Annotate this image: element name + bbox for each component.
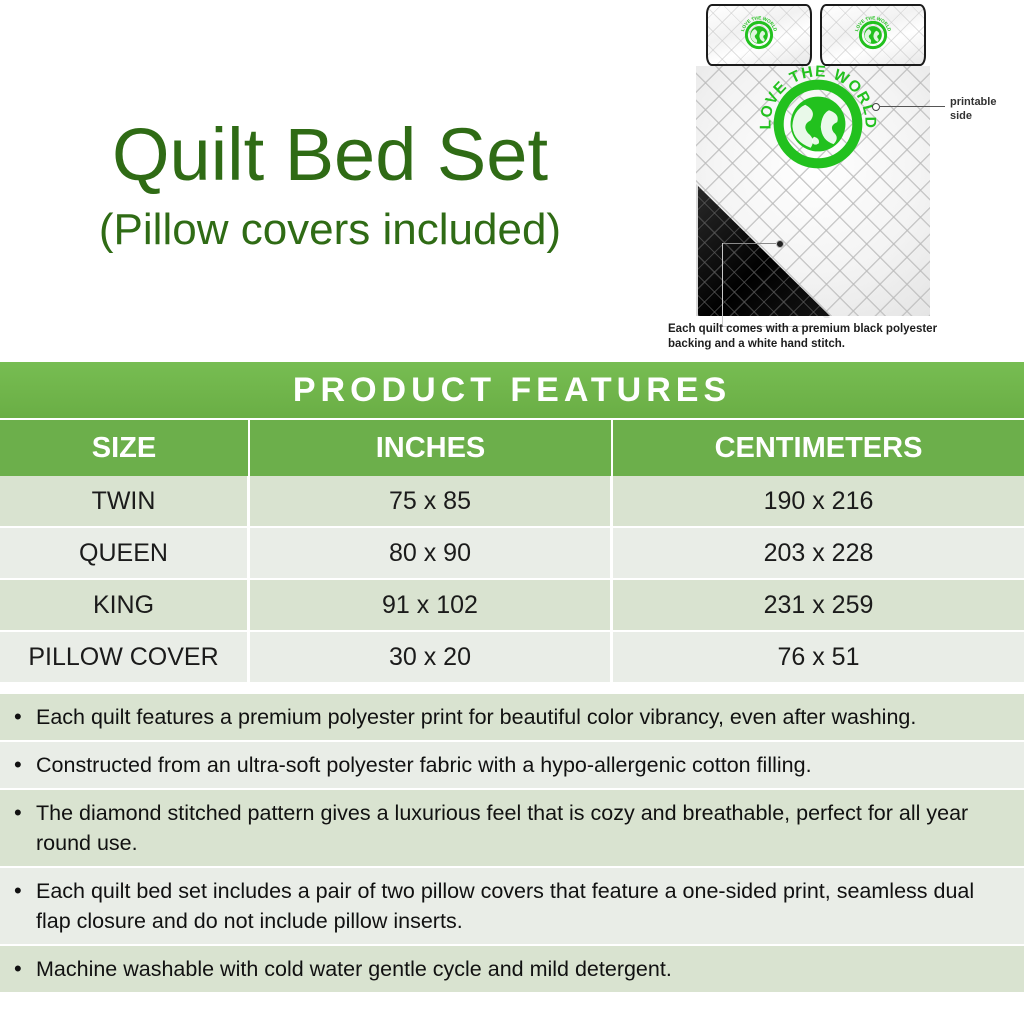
callout-printable-line2: side bbox=[950, 110, 1024, 124]
bullet-icon: • bbox=[14, 798, 36, 858]
callout-dot-icon bbox=[872, 103, 880, 111]
pillow-left: LOVE THE WORLD bbox=[706, 4, 812, 66]
cell-centimeters: 190 x 216 bbox=[613, 476, 1024, 528]
table-row: KING 91 x 102 231 x 259 bbox=[0, 580, 1024, 632]
cell-inches: 30 x 20 bbox=[250, 632, 613, 684]
list-item-text: Each quilt bed set includes a pair of tw… bbox=[36, 876, 1010, 936]
love-the-world-logo-icon: LOVE THE WORLD bbox=[754, 60, 882, 188]
list-item-text: Constructed from an ultra-soft polyester… bbox=[36, 750, 1010, 780]
bullet-icon: • bbox=[14, 702, 36, 732]
cell-size: PILLOW COVER bbox=[0, 632, 250, 684]
list-item-text: Each quilt features a premium polyester … bbox=[36, 702, 1010, 732]
cell-centimeters: 76 x 51 bbox=[613, 632, 1024, 684]
column-header-centimeters: CENTIMETERS bbox=[613, 420, 1024, 476]
list-item: • The diamond stitched pattern gives a l… bbox=[0, 790, 1024, 868]
cell-size: TWIN bbox=[0, 476, 250, 528]
table-row: TWIN 75 x 85 190 x 216 bbox=[0, 476, 1024, 528]
callout-leader-line bbox=[722, 243, 776, 244]
product-photo: LOVE THE WORLD LOVE THE WORLD bbox=[660, 0, 1024, 362]
page-subtitle: (Pillow covers included) bbox=[0, 208, 660, 252]
callout-leader-line bbox=[879, 106, 945, 107]
callout-printable-side: printable side bbox=[872, 96, 1024, 142]
cell-inches: 80 x 90 bbox=[250, 528, 613, 580]
table-column-headers: SIZE INCHES CENTIMETERS bbox=[0, 420, 1024, 476]
cell-size: KING bbox=[0, 580, 250, 632]
cell-centimeters: 231 x 259 bbox=[613, 580, 1024, 632]
cell-inches: 75 x 85 bbox=[250, 476, 613, 528]
callout-backing bbox=[700, 240, 832, 330]
list-item: • Machine washable with cold water gentl… bbox=[0, 946, 1024, 994]
list-item-text: Machine washable with cold water gentle … bbox=[36, 954, 1010, 984]
callout-leader-line bbox=[722, 243, 723, 327]
table-row: PILLOW COVER 30 x 20 76 x 51 bbox=[0, 632, 1024, 684]
bullet-icon: • bbox=[14, 750, 36, 780]
bullet-icon: • bbox=[14, 954, 36, 984]
product-photo-caption: Each quilt comes with a premium black po… bbox=[668, 322, 968, 352]
cell-inches: 91 x 102 bbox=[250, 580, 613, 632]
column-header-inches: INCHES bbox=[250, 420, 613, 476]
table-title: PRODUCT FEATURES bbox=[0, 362, 1024, 420]
bullet-icon: • bbox=[14, 876, 36, 936]
feature-bullet-list: • Each quilt features a premium polyeste… bbox=[0, 694, 1024, 994]
cell-centimeters: 203 x 228 bbox=[613, 528, 1024, 580]
list-item-text: The diamond stitched pattern gives a lux… bbox=[36, 798, 1010, 858]
page-title: Quilt Bed Set bbox=[0, 118, 660, 192]
product-features-table: PRODUCT FEATURES SIZE INCHES CENTIMETERS… bbox=[0, 362, 1024, 684]
callout-dot-icon bbox=[776, 240, 784, 248]
pillow-right: LOVE THE WORLD bbox=[820, 4, 926, 66]
callout-printable-line1: printable bbox=[950, 96, 1024, 110]
cell-size: QUEEN bbox=[0, 528, 250, 580]
list-item: • Each quilt bed set includes a pair of … bbox=[0, 868, 1024, 946]
list-item: • Each quilt features a premium polyeste… bbox=[0, 694, 1024, 742]
hero-section: Quilt Bed Set (Pillow covers included) L… bbox=[0, 0, 1024, 362]
column-header-size: SIZE bbox=[0, 420, 250, 476]
list-item: • Constructed from an ultra-soft polyest… bbox=[0, 742, 1024, 790]
table-row: QUEEN 80 x 90 203 x 228 bbox=[0, 528, 1024, 580]
callout-printable-label: printable side bbox=[950, 96, 1024, 124]
title-block: Quilt Bed Set (Pillow covers included) bbox=[0, 118, 660, 252]
love-the-world-logo-icon: LOVE THE WORLD bbox=[738, 14, 780, 56]
love-the-world-logo-icon: LOVE THE WORLD bbox=[852, 14, 894, 56]
